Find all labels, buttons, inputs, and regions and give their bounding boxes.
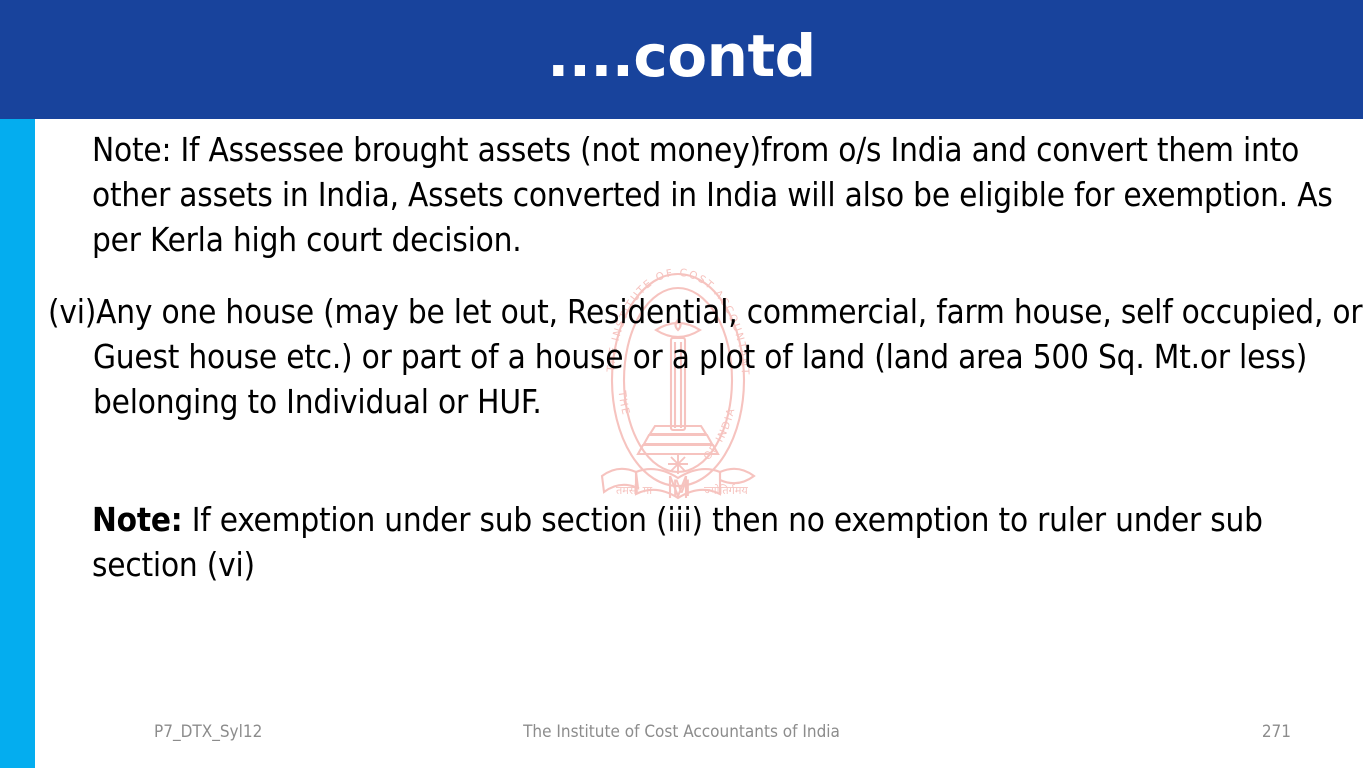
paragraph-note-assets: Note: If Assessee brought assets (not mo…	[92, 127, 1350, 262]
slide-body: Note: If Assessee brought assets (not mo…	[0, 119, 1363, 699]
note-label: Note:	[92, 500, 182, 539]
paragraph-note-exemption: Note: If exemption under sub section (ii…	[92, 497, 1342, 587]
paragraph-clause-vi: (vi)Any one house (may be let out, Resid…	[48, 289, 1363, 424]
footer-institute-name: The Institute of Cost Accountants of Ind…	[0, 716, 1363, 748]
title-banner: ....contd	[0, 0, 1363, 119]
slide-canvas: ....contd	[0, 0, 1363, 768]
footer-page-number: 271	[1262, 716, 1291, 748]
page-title: ....contd	[0, 0, 1363, 119]
note-body-text: If exemption under sub section (iii) the…	[92, 500, 1272, 584]
slide-footer: P7_DTX_Syl12 The Institute of Cost Accou…	[0, 716, 1363, 748]
